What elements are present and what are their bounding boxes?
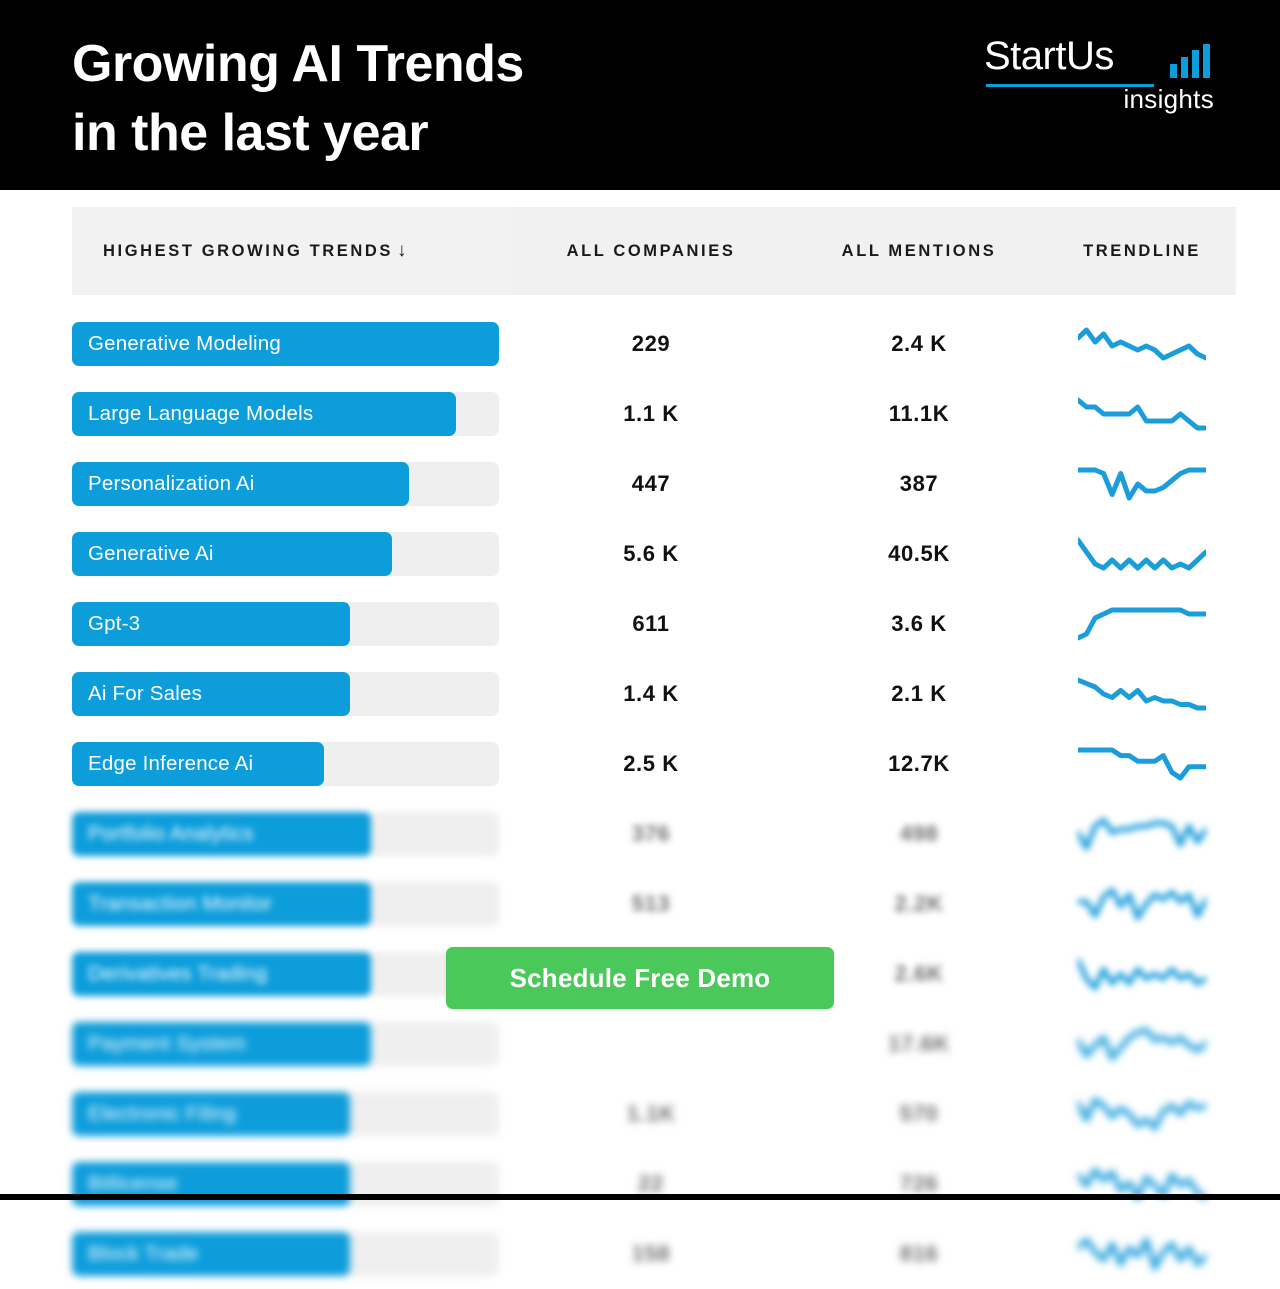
trend-bar-track: Large Language Models [72, 392, 499, 436]
trend-label: Electronic Filing [72, 1102, 236, 1126]
trend-bar-cell[interactable]: Personalization Ai [72, 462, 512, 506]
table-row[interactable]: Block Trade158816 [72, 1219, 1236, 1289]
trend-label: Transaction Monitor [72, 892, 272, 916]
all-mentions-value: 17.6K [790, 1031, 1048, 1057]
trend-bar-fill: Portfolio Analytics [72, 812, 371, 856]
trend-label: Edge Inference Ai [72, 752, 253, 776]
trend-label: Gpt-3 [72, 612, 140, 636]
trend-bar-fill: Derivatives Trading [72, 952, 371, 996]
trend-label: Derivatives Trading [72, 962, 267, 986]
all-companies-value: 2.5 K [512, 751, 790, 777]
table-row[interactable]: Ai For Sales1.4 K2.1 K [72, 659, 1236, 729]
trend-bar-track: Electronic Filing [72, 1092, 499, 1136]
trend-bar-track: Generative Ai [72, 532, 499, 576]
trend-bar-fill: Personalization Ai [72, 462, 409, 506]
trendline-sparkline [1048, 1096, 1236, 1132]
trend-bar-track: Derivatives Trading [72, 952, 499, 996]
trendline-sparkline [1048, 1236, 1236, 1272]
trend-bar-track: Edge Inference Ai [72, 742, 499, 786]
column-header-trendline[interactable]: TRENDLINE [1048, 207, 1236, 295]
table-body: Generative Modeling2292.4 KLarge Languag… [72, 309, 1236, 1289]
trend-bar-cell[interactable]: Transaction Monitor [72, 882, 512, 926]
all-companies-value: 1.1K [512, 1101, 790, 1127]
trendline-sparkline [1048, 956, 1236, 992]
trend-bar-cell[interactable]: Portfolio Analytics [72, 812, 512, 856]
table-header-row: HIGHEST GROWING TRENDS ↓ ALL COMPANIES A… [72, 207, 1236, 295]
trend-bar-cell[interactable]: Block Trade [72, 1232, 512, 1276]
header-band: Growing AI Trends in the last year Start… [0, 0, 1280, 190]
table-row[interactable]: Gpt-36113.6 K [72, 589, 1236, 659]
startus-insights-logo[interactable]: StartUs insights [984, 36, 1214, 118]
trend-bar-fill: Transaction Monitor [72, 882, 371, 926]
schedule-free-demo-button[interactable]: Schedule Free Demo [446, 947, 834, 1009]
trend-bar-track: Generative Modeling [72, 322, 499, 366]
all-mentions-value: 12.7K [790, 751, 1048, 777]
sort-down-icon[interactable]: ↓ [397, 240, 407, 262]
all-companies-value: 1.4 K [512, 681, 790, 707]
logo-wordmark: StartUs [984, 36, 1114, 76]
column-header-mentions[interactable]: ALL MENTIONS [790, 207, 1048, 295]
trend-label: Block Trade [72, 1242, 198, 1266]
all-companies-value: 229 [512, 331, 790, 357]
table-row[interactable]: Transaction Monitor5132.2K [72, 869, 1236, 939]
trend-bar-fill: Electronic Filing [72, 1092, 350, 1136]
trendline-sparkline [1048, 886, 1236, 922]
all-companies-value: 5.6 K [512, 541, 790, 567]
all-mentions-value: 2.2K [790, 891, 1048, 917]
all-mentions-value: 2.4 K [790, 331, 1048, 357]
trend-bar-track: Gpt-3 [72, 602, 499, 646]
all-companies-value: 1.1 K [512, 401, 790, 427]
trend-bar-fill: Generative Ai [72, 532, 392, 576]
all-mentions-value: 40.5K [790, 541, 1048, 567]
trend-bar-cell[interactable]: Payment System [72, 1022, 512, 1066]
logo-subtext: insights [1123, 86, 1214, 112]
table-row[interactable]: Generative Ai5.6 K40.5K [72, 519, 1236, 589]
trendline-sparkline [1048, 326, 1236, 362]
trend-label: Portfolio Analytics [72, 822, 254, 846]
trend-bar-cell[interactable]: Generative Modeling [72, 322, 512, 366]
trends-table: HIGHEST GROWING TRENDS ↓ ALL COMPANIES A… [72, 207, 1236, 1289]
all-companies-value: 513 [512, 891, 790, 917]
column-header-trends[interactable]: HIGHEST GROWING TRENDS ↓ [72, 207, 512, 295]
all-mentions-value: 2.1 K [790, 681, 1048, 707]
trendline-sparkline [1048, 816, 1236, 852]
trendline-sparkline [1048, 606, 1236, 642]
all-mentions-value: 570 [790, 1101, 1048, 1127]
all-companies-value: 447 [512, 471, 790, 497]
bottom-crop-strip [0, 1194, 1280, 1200]
trend-bar-fill: Block Trade [72, 1232, 350, 1276]
trend-bar-track: Block Trade [72, 1232, 499, 1276]
trend-bar-cell[interactable]: Electronic Filing [72, 1092, 512, 1136]
table-row[interactable]: Bitlicense22726 [72, 1149, 1236, 1219]
trend-bar-cell[interactable]: Generative Ai [72, 532, 512, 576]
trend-bar-fill: Generative Modeling [72, 322, 499, 366]
trendline-sparkline [1048, 466, 1236, 502]
table-row[interactable]: Personalization Ai447387 [72, 449, 1236, 519]
table-row[interactable]: Generative Modeling2292.4 K [72, 309, 1236, 379]
trend-bar-fill: Payment System [72, 1022, 371, 1066]
all-companies-value: 158 [512, 1241, 790, 1267]
table-row[interactable]: Portfolio Analytics376498 [72, 799, 1236, 869]
trendline-sparkline [1048, 676, 1236, 712]
column-header-trends-label: HIGHEST GROWING TRENDS [103, 242, 393, 261]
all-mentions-value: 387 [790, 471, 1048, 497]
all-mentions-value: 3.6 K [790, 611, 1048, 637]
trendline-sparkline [1048, 1026, 1236, 1062]
trend-bar-cell[interactable]: Gpt-3 [72, 602, 512, 646]
trend-bar-cell[interactable]: Large Language Models [72, 392, 512, 436]
all-companies-value: 376 [512, 821, 790, 847]
table-row[interactable]: Edge Inference Ai2.5 K12.7K [72, 729, 1236, 799]
trend-bar-cell[interactable]: Ai For Sales [72, 672, 512, 716]
column-header-companies[interactable]: ALL COMPANIES [512, 207, 790, 295]
trendline-sparkline [1048, 396, 1236, 432]
table-row[interactable]: Large Language Models1.1 K11.1K [72, 379, 1236, 449]
trend-label: Personalization Ai [72, 472, 255, 496]
trendline-sparkline [1048, 536, 1236, 572]
table-row[interactable]: Electronic Filing1.1K570 [72, 1079, 1236, 1149]
all-mentions-value: 816 [790, 1241, 1048, 1267]
trend-bar-fill: Edge Inference Ai [72, 742, 324, 786]
trendline-sparkline [1048, 746, 1236, 782]
trend-bar-fill: Large Language Models [72, 392, 456, 436]
table-row[interactable]: Payment System17.6K [72, 1009, 1236, 1079]
trend-bar-cell[interactable]: Edge Inference Ai [72, 742, 512, 786]
bar-chart-icon [1170, 44, 1212, 78]
trend-label: Large Language Models [72, 402, 313, 426]
trend-label: Generative Modeling [72, 332, 281, 356]
all-mentions-value: 498 [790, 821, 1048, 847]
trend-label: Ai For Sales [72, 682, 202, 706]
all-companies-value: 611 [512, 611, 790, 637]
trend-bar-track: Transaction Monitor [72, 882, 499, 926]
trend-bar-track: Personalization Ai [72, 462, 499, 506]
trend-label: Bitlicense [72, 1172, 178, 1196]
trend-bar-track: Ai For Sales [72, 672, 499, 716]
page-title: Growing AI Trends in the last year [72, 30, 524, 167]
trend-bar-track: Payment System [72, 1022, 499, 1066]
trend-bar-track: Portfolio Analytics [72, 812, 499, 856]
trend-label: Payment System [72, 1032, 246, 1056]
trend-bar-fill: Gpt-3 [72, 602, 350, 646]
trend-label: Generative Ai [72, 542, 214, 566]
all-mentions-value: 11.1K [790, 401, 1048, 427]
trend-bar-fill: Ai For Sales [72, 672, 350, 716]
